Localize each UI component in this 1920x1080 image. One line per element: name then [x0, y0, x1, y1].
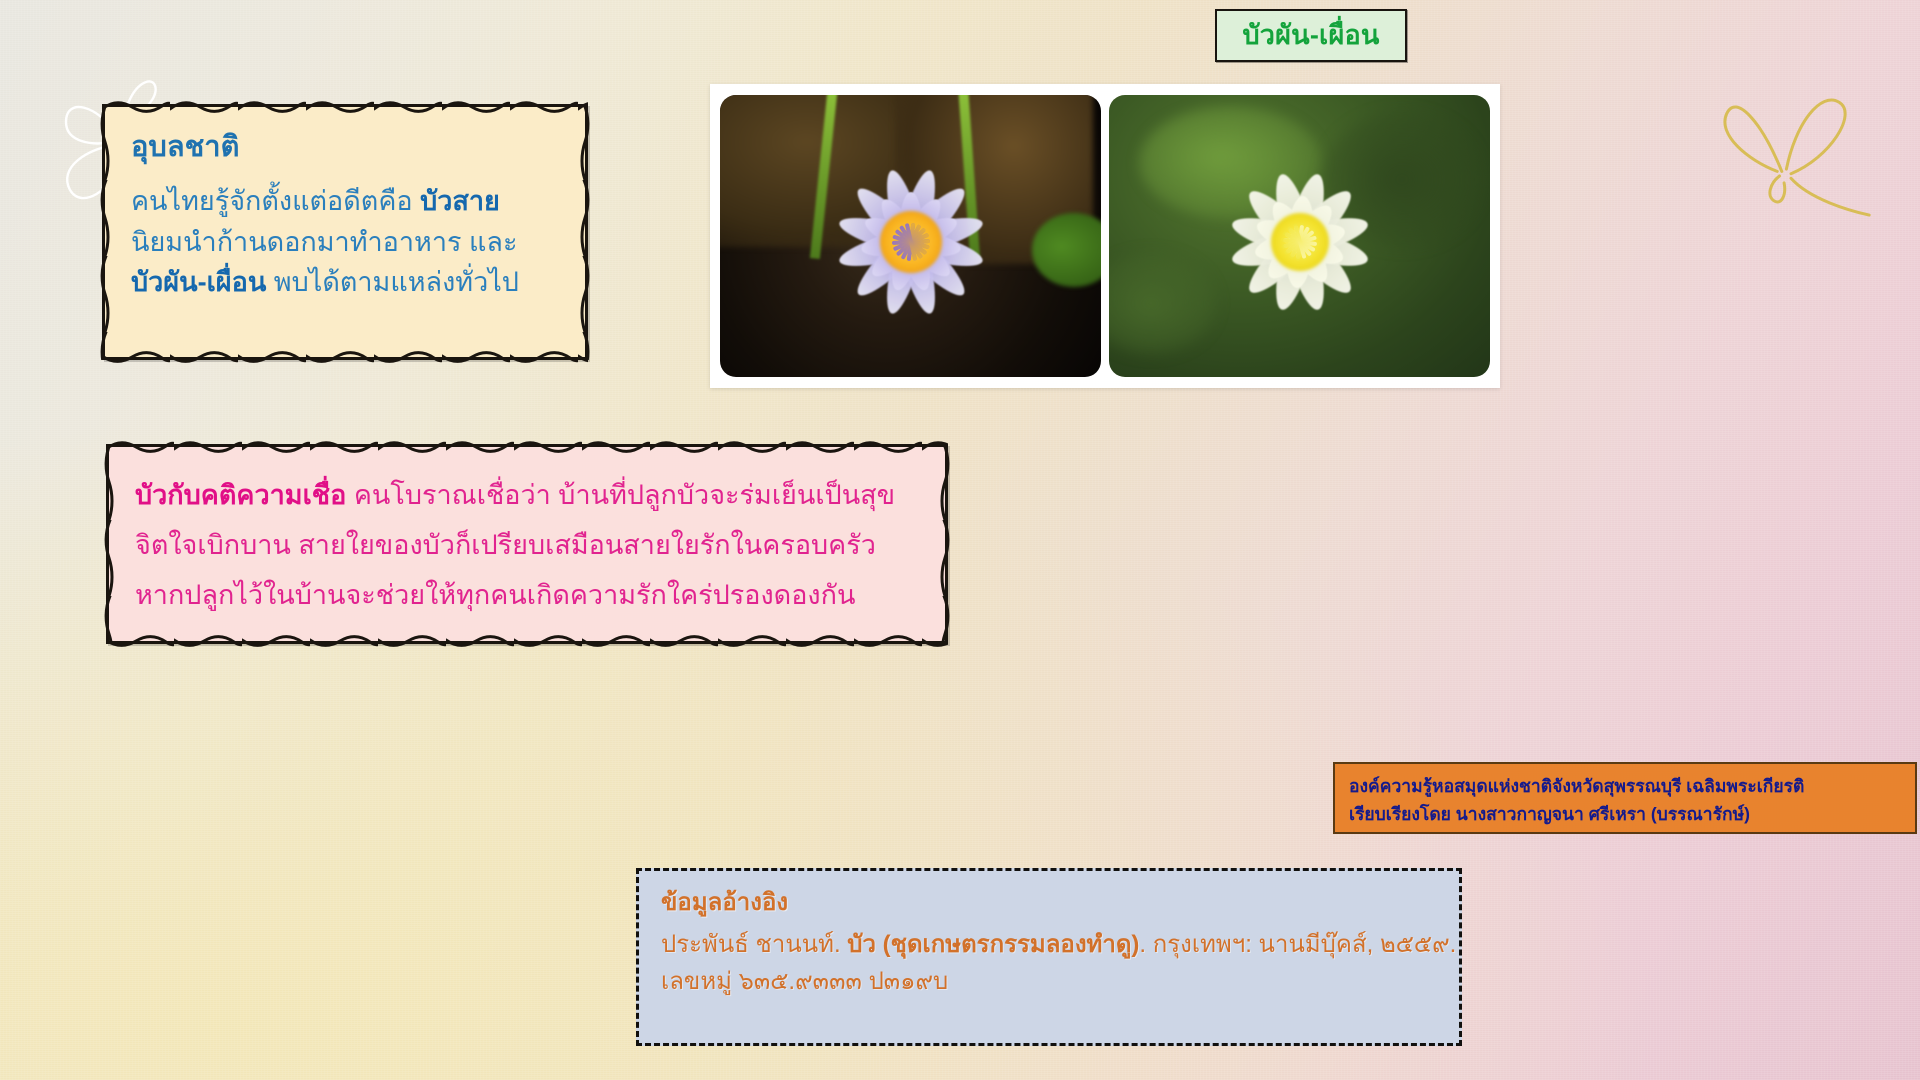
purple-water-lily-photo	[720, 95, 1101, 377]
reference-title: ข้อมูลอ้างอิง	[661, 887, 1437, 918]
butterfly-line-art-right-icon	[1676, 38, 1906, 268]
title-chip: บัวผัน-เผื่อน	[1215, 9, 1407, 62]
card-edge-right	[939, 444, 953, 644]
foliage-blur	[1109, 253, 1216, 355]
reference-publication: . กรุงเทพฯ: นานมีบุ๊คส์, ๒๕๕๙.	[1139, 931, 1456, 958]
reference-line-1: ประพันธ์ ชานนท์. บัว (ชุดเกษตรกรรมลองทำด…	[661, 926, 1437, 963]
card-edge-right	[579, 104, 593, 360]
cream-line3-text: พบได้ตามแหล่งทั่วไป	[266, 267, 519, 297]
cream-card-line-2: นิยมนำก้านดอกมาทำอาหาร และ	[131, 222, 559, 263]
slide-canvas: บัวผัน-เผื่อน อุบลชาติ คนไทยรู้จักตั้งแต…	[0, 0, 1920, 1080]
card-edge-left	[97, 104, 111, 360]
cream-card-line-3: บัวผัน-เผื่อน พบได้ตามแหล่งทั่วไป	[131, 262, 559, 303]
ubonchat-info-card: อุบลชาติ คนไทยรู้จักตั้งแต่อดีตคือ บัวสา…	[102, 104, 588, 360]
cream-line3-bold: บัวผัน-เผื่อน	[131, 267, 266, 297]
cream-line1-bold: บัวสาย	[420, 186, 500, 216]
credit-line-1: องค์ความรู้หอสมุดแห่งชาติจังหวัดสุพรรณบุ…	[1349, 772, 1903, 800]
reference-author: ประพันธ์ ชานนท์.	[661, 931, 847, 958]
reference-booktitle: บัว (ชุดเกษตรกรรมลองทำดู)	[847, 931, 1139, 958]
pink-line1-bold: บัวกับคติความเชื่อ	[135, 480, 346, 510]
pink-card-line-2: จิตใจเบิกบาน สายใยของบัวก็เปรียบเสมือนสา…	[135, 521, 919, 571]
cream-card-line-1: คนไทยรู้จักตั้งแต่อดีตคือ บัวสาย	[131, 181, 559, 222]
lily-pad-edge	[1032, 213, 1101, 286]
cream-card-heading: อุบลชาติ	[131, 129, 559, 165]
white-water-lily-photo	[1109, 95, 1490, 377]
pink-card-line-3: หากปลูกไว้ในบ้านจะช่วยให้ทุกคนเกิดความรั…	[135, 571, 919, 621]
reference-line-2: เลขหมู่ ๖๓๕.๙๓๓๓ ป๓๑๙บ	[661, 963, 1437, 1000]
reference-box: ข้อมูลอ้างอิง ประพันธ์ ชานนท์. บัว (ชุดเ…	[636, 868, 1462, 1046]
title-chip-label: บัวผัน-เผื่อน	[1242, 22, 1379, 49]
water-lily-photo-strip	[710, 84, 1500, 388]
credit-line-2: เรียบเรียงโดย นางสาวกาญจนา ศรีเหรา (บรรณ…	[1349, 800, 1903, 828]
lotus-belief-card: บัวกับคติความเชื่อ คนโบราณเชื่อว่า บ้านท…	[106, 444, 948, 644]
pink-card-line-1: บัวกับคติความเชื่อ คนโบราณเชื่อว่า บ้านท…	[135, 471, 919, 521]
cream-card-body: คนไทยรู้จักตั้งแต่อดีตคือ บัวสาย นิยมนำก…	[131, 181, 559, 303]
pink-line1-text: คนโบราณเชื่อว่า บ้านที่ปลูกบัวจะร่มเย็นเ…	[346, 480, 895, 510]
card-edge-left	[101, 444, 115, 644]
cream-line1-text: คนไทยรู้จักตั้งแต่อดีตคือ	[131, 186, 420, 216]
knowledge-credit-banner: องค์ความรู้หอสมุดแห่งชาติจังหวัดสุพรรณบุ…	[1333, 762, 1917, 834]
